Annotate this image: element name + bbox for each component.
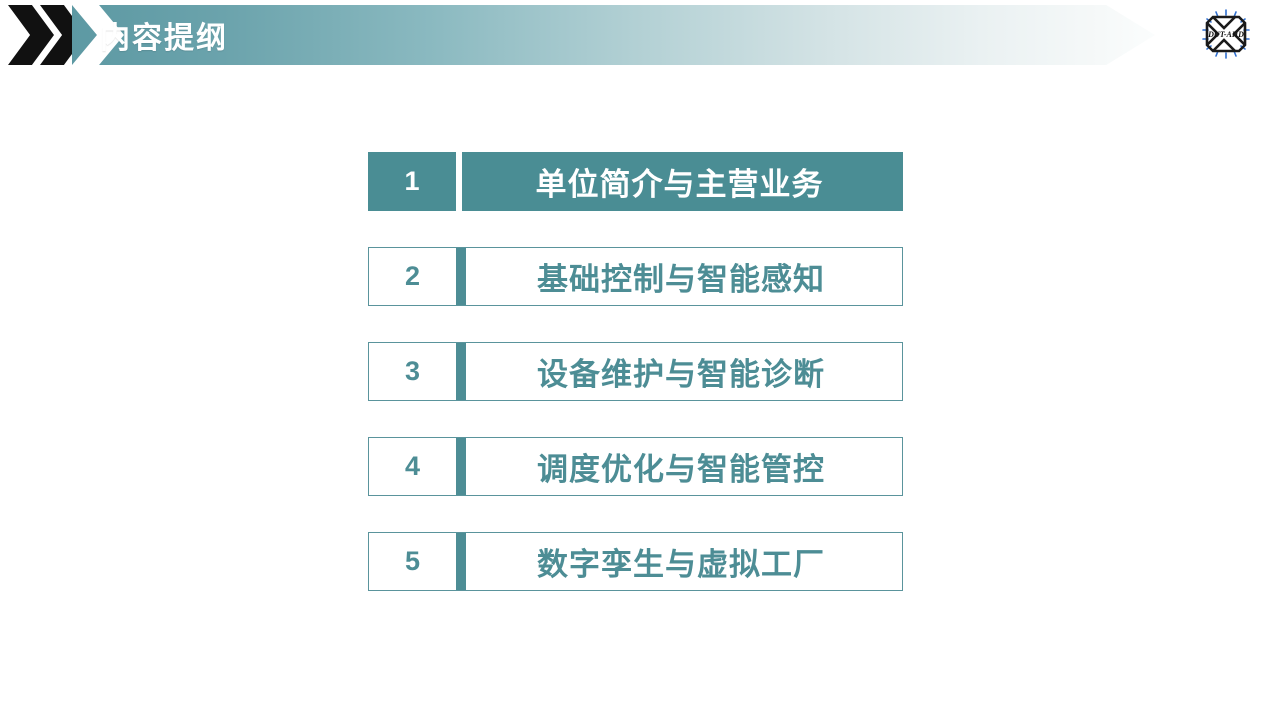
outline-item-label: 数字孪生与虚拟工厂 bbox=[466, 532, 903, 591]
outline-item-1[interactable]: 1 单位简介与主营业务 bbox=[368, 152, 903, 211]
outline-item-divider bbox=[456, 437, 466, 496]
outline-item-label: 单位简介与主营业务 bbox=[462, 152, 903, 211]
outline-item-number: 5 bbox=[368, 532, 456, 591]
logo-text: DUT-AIID bbox=[1207, 30, 1244, 39]
outline-item-3[interactable]: 3 设备维护与智能诊断 bbox=[368, 342, 903, 401]
outline-list: 1 单位简介与主营业务 2 基础控制与智能感知 3 设备维护与智能诊断 4 调度… bbox=[368, 152, 903, 591]
outline-item-number: 4 bbox=[368, 437, 456, 496]
outline-item-label: 调度优化与智能管控 bbox=[466, 437, 903, 496]
outline-item-number: 1 bbox=[368, 152, 456, 211]
outline-item-divider bbox=[456, 342, 466, 401]
slide-header: 内容提纲 DUT-AIID bbox=[0, 0, 1280, 72]
outline-item-2[interactable]: 2 基础控制与智能感知 bbox=[368, 247, 903, 306]
page-title: 内容提纲 bbox=[100, 5, 228, 65]
dut-aiid-logo: DUT-AIID bbox=[1198, 8, 1254, 60]
outline-item-5[interactable]: 5 数字孪生与虚拟工厂 bbox=[368, 532, 903, 591]
header-banner bbox=[72, 5, 1155, 65]
outline-item-4[interactable]: 4 调度优化与智能管控 bbox=[368, 437, 903, 496]
outline-item-number: 2 bbox=[368, 247, 456, 306]
outline-item-divider bbox=[456, 532, 466, 591]
outline-item-label: 基础控制与智能感知 bbox=[466, 247, 903, 306]
outline-item-divider bbox=[456, 247, 466, 306]
outline-item-label: 设备维护与智能诊断 bbox=[466, 342, 903, 401]
outline-item-number: 3 bbox=[368, 342, 456, 401]
